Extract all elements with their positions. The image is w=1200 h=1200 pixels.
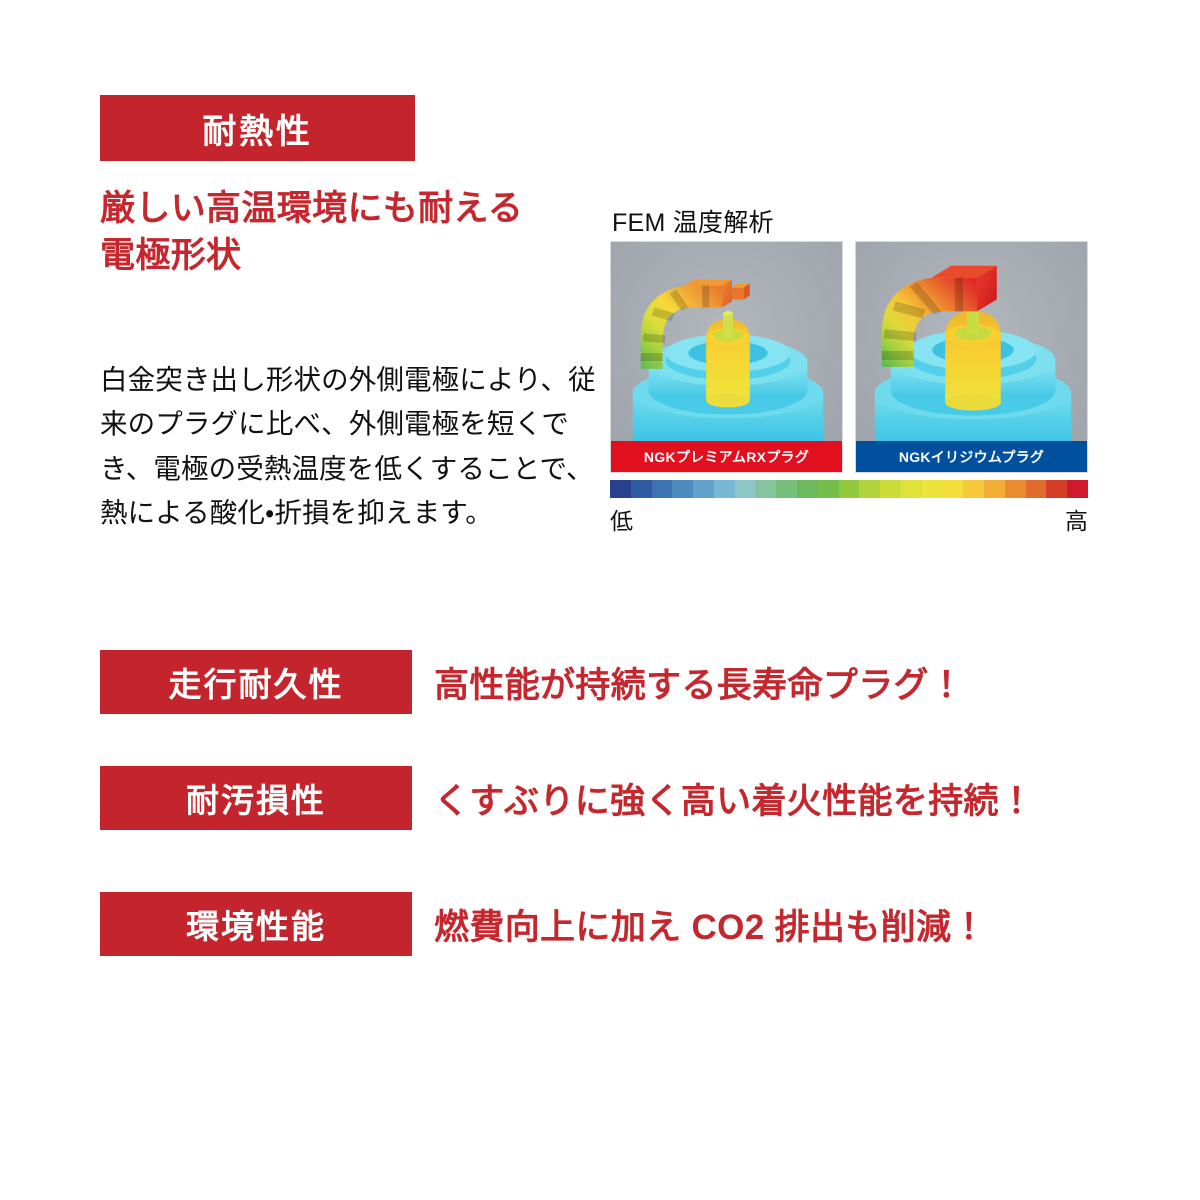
temperature-color-segment-9 xyxy=(797,480,818,498)
temperature-color-segment-14 xyxy=(901,480,922,498)
temperature-color-segment-15 xyxy=(922,480,943,498)
fem-panel-group: NGKプレミアムRXプラグ xyxy=(610,241,1088,473)
fem-thermal-render-iridium xyxy=(856,242,1087,472)
section-tag-label: 耐熱性 xyxy=(202,104,312,153)
temperature-color-segment-7 xyxy=(755,480,776,498)
temperature-color-segment-10 xyxy=(818,480,839,498)
feature-tag-fouling: 耐汚損性 xyxy=(100,766,412,830)
fem-panel-premium-rx: NGKプレミアムRXプラグ xyxy=(610,241,843,473)
temperature-scale-labels: 低 高 xyxy=(610,502,1088,536)
lead-line-2: 電極形状 xyxy=(100,233,620,280)
section-tag-heat-resistance: 耐熱性 xyxy=(100,95,415,161)
temperature-color-segment-11 xyxy=(839,480,860,498)
temperature-color-segment-5 xyxy=(714,480,735,498)
fem-panel-iridium: NGKイリジウムプラグ xyxy=(855,241,1088,473)
lead-line-1: 厳しい高温環境にも耐える xyxy=(100,186,620,233)
fem-analysis-title: FEM 温度解析 xyxy=(612,203,774,239)
fem-caption-iridium: NGKイリジウムプラグ xyxy=(856,441,1087,472)
temperature-color-segment-13 xyxy=(880,480,901,498)
temperature-color-bar xyxy=(610,480,1088,498)
temperature-color-segment-3 xyxy=(672,480,693,498)
scale-label-low: 低 xyxy=(610,502,633,536)
fem-thermal-render-rx xyxy=(611,242,842,472)
temperature-color-segment-8 xyxy=(776,480,797,498)
feature-text-environment: 燃費向上に加え CO2 排出も削減！ xyxy=(434,899,987,950)
temperature-color-segment-22 xyxy=(1067,480,1088,498)
feature-tag-environment: 環境性能 xyxy=(100,892,412,956)
temperature-color-segment-19 xyxy=(1005,480,1026,498)
fem-caption-premium-rx: NGKプレミアムRXプラグ xyxy=(611,441,842,472)
feature-text-fouling: くすぶりに強く高い着火性能を持続！ xyxy=(434,773,1034,824)
heat-resistance-feature-page: 耐熱性 厳しい高温環境にも耐える 電極形状 白金突き出し形状の外側電極により、従… xyxy=(0,0,1200,1200)
temperature-color-segment-12 xyxy=(859,480,880,498)
temperature-color-segment-21 xyxy=(1046,480,1067,498)
temperature-color-segment-20 xyxy=(1026,480,1047,498)
feature-row-environment: 環境性能 燃費向上に加え CO2 排出も削減！ xyxy=(100,892,1035,956)
feature-row-fouling: 耐汚損性 くすぶりに強く高い着火性能を持続！ xyxy=(100,766,1035,830)
temperature-color-segment-0 xyxy=(610,480,631,498)
temperature-color-segment-17 xyxy=(963,480,984,498)
feature-tag-durability: 走行耐久性 xyxy=(100,650,412,714)
feature-text-durability: 高性能が持続する長寿命プラグ！ xyxy=(434,657,964,708)
scale-label-high: 高 xyxy=(1065,502,1088,536)
temperature-color-segment-18 xyxy=(984,480,1005,498)
section-body-text: 白金突き出し形状の外側電極により、従来のプラグに比べ、外側電極を短くでき、電極の… xyxy=(100,358,600,536)
temperature-color-segment-1 xyxy=(631,480,652,498)
temperature-color-segment-4 xyxy=(693,480,714,498)
section-lead-heading: 厳しい高温環境にも耐える 電極形状 xyxy=(100,186,620,279)
temperature-color-segment-16 xyxy=(943,480,964,498)
temperature-scale: 低 高 xyxy=(610,480,1088,536)
temperature-color-segment-2 xyxy=(652,480,673,498)
feature-row-durability: 走行耐久性 高性能が持続する長寿命プラグ！ xyxy=(100,650,1035,714)
temperature-color-segment-6 xyxy=(735,480,756,498)
